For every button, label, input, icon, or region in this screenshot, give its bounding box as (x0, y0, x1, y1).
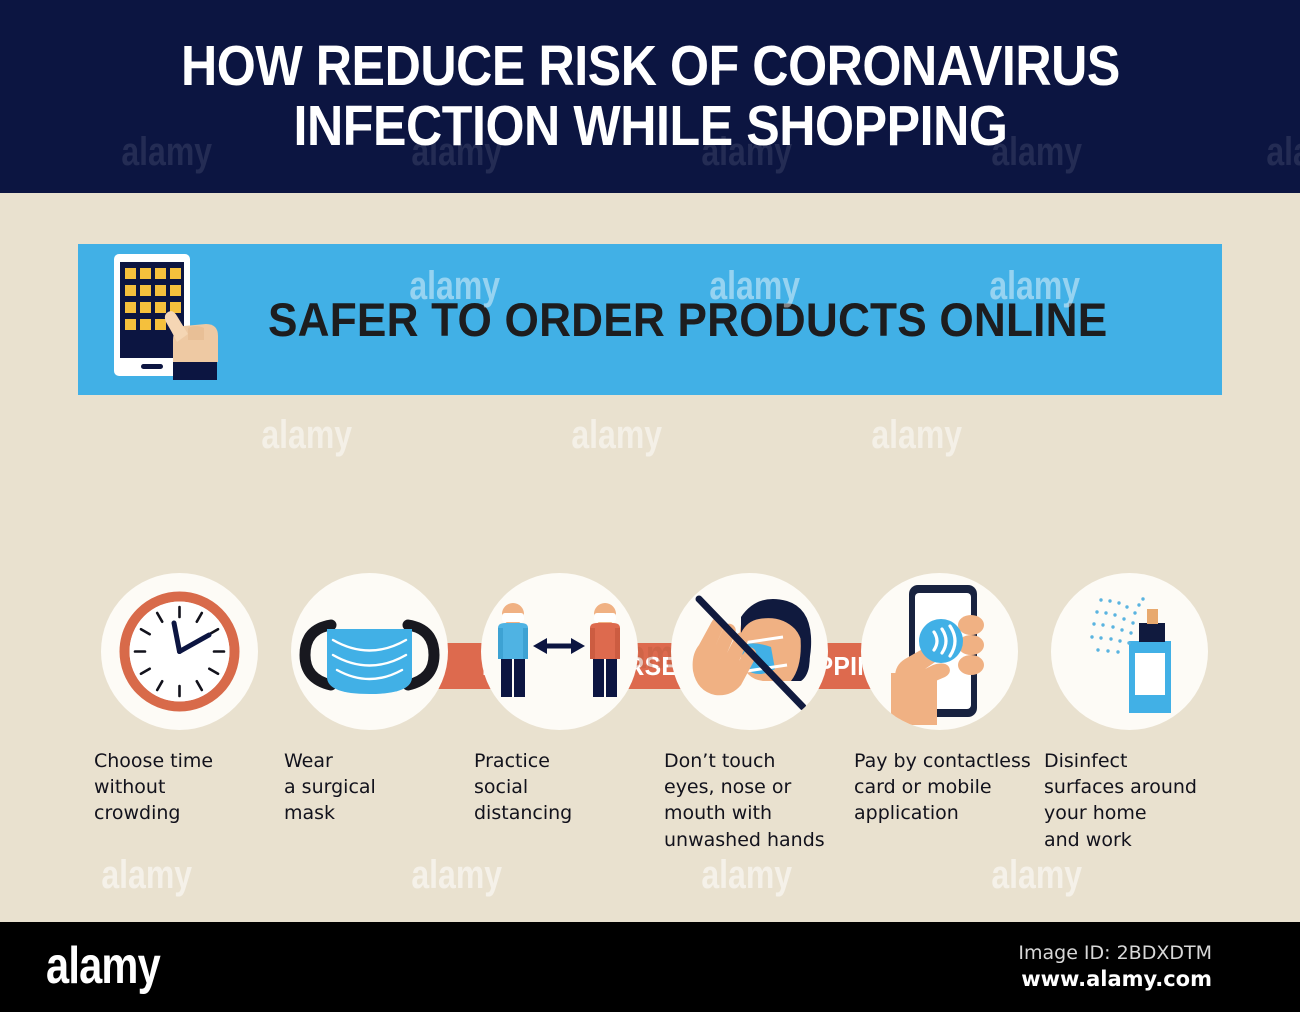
tip-contactless-payment: Pay by contactless card or mobile applic… (844, 573, 1034, 853)
tip-caption: Choose time without crowding (84, 748, 274, 827)
page-title: HOW REDUCE RISK OF CORONAVIRUS INFECTION… (154, 37, 1146, 156)
social-distancing-icon (481, 573, 638, 730)
tip-dont-touch-face: Don’t touch eyes, nose or mouth with unw… (654, 573, 844, 853)
surgical-mask-icon (291, 573, 448, 730)
order-online-label: SAFER TO ORDER PRODUCTS ONLINE (268, 292, 1107, 347)
watermark-tile: alamy (411, 853, 502, 898)
watermark-tile: alamy (991, 853, 1082, 898)
tip-caption: Practice social distancing (464, 748, 654, 827)
contactless-payment-icon (861, 573, 1018, 730)
clock-icon (101, 573, 258, 730)
tip-caption: Pay by contactless card or mobile applic… (844, 748, 1034, 827)
watermark-tile: alamy (701, 853, 792, 898)
watermark-tile: alamy (571, 413, 662, 458)
alamy-footer-bar: alamy Image ID: 2BDXDTM www.alamy.com (0, 922, 1300, 1012)
tip-caption: Disinfect surfaces around your home and … (1034, 748, 1224, 853)
header-banner: HOW REDUCE RISK OF CORONAVIRUS INFECTION… (0, 0, 1300, 193)
watermark-tile: alamy (261, 413, 352, 458)
watermark-tile: alamy (1266, 130, 1300, 175)
alamy-logo: alamy (46, 936, 160, 996)
watermark-tile: alamy (871, 413, 962, 458)
image-id-label: Image ID: 2BDXDTM (1018, 942, 1212, 964)
tip-choose-time: Choose time without crowding (84, 573, 274, 853)
disinfectant-spray-icon (1051, 573, 1208, 730)
tip-disinfect-surfaces: Disinfect surfaces around your home and … (1034, 573, 1224, 853)
watermark-tile: alamy (101, 853, 192, 898)
prevention-tips-row: Choose time without crowding (84, 573, 1224, 853)
tip-social-distancing: Practice social distancing (464, 573, 654, 853)
tip-caption: Wear a surgical mask (274, 748, 464, 827)
infographic-body: SAFER TO ORDER PRODUCTS ONLINE alamy ala… (0, 193, 1300, 922)
order-online-banner: SAFER TO ORDER PRODUCTS ONLINE alamy ala… (78, 244, 1222, 395)
no-touch-face-icon (671, 573, 828, 730)
tip-wear-mask: Wear a surgical mask (274, 573, 464, 853)
alamy-url-label: www.alamy.com (1018, 967, 1212, 991)
tip-caption: Don’t touch eyes, nose or mouth with unw… (654, 748, 844, 853)
footer-meta: Image ID: 2BDXDTM www.alamy.com (1018, 942, 1212, 991)
tablet-hand-icon (78, 244, 268, 395)
